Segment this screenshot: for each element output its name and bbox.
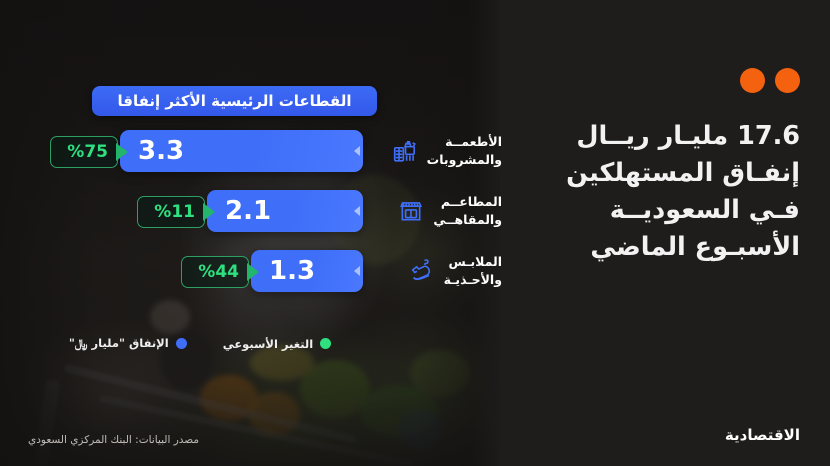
- category-label-line: الملابـس: [444, 253, 502, 271]
- headline-line-1: 17.6 مليـار ريــال: [515, 118, 800, 155]
- legend-item-spending: الإنفاق "مليار ﷼": [69, 336, 187, 351]
- category-label-group: المطاعــم والمقاهــي: [398, 186, 502, 236]
- bar-spending: 3.3: [120, 130, 363, 172]
- clothing-icon: [409, 258, 435, 284]
- headline-line-2: إنفـاق المستهلكين: [515, 155, 800, 192]
- bar-value-label: 3.3: [138, 138, 184, 164]
- category-label-group: الملابـس والأحـذيـة: [409, 246, 502, 296]
- storefront-icon: [398, 198, 424, 224]
- chart-legend: الإنفاق "مليار ﷼" التغير الأسبوعي: [0, 336, 400, 351]
- legend-item-weekly-change: التغير الأسبوعي: [223, 336, 332, 351]
- badge-arrow-icon: [203, 203, 215, 221]
- category-label: المطاعــم والمقاهــي: [433, 193, 502, 229]
- category-label-line: والمشروبات: [427, 151, 502, 169]
- bar-end-arrow-icon: [354, 206, 360, 216]
- data-source-note: مصدر البيانات: البنك المركزي السعودي: [28, 434, 199, 446]
- badge-arrow-icon: [116, 143, 128, 161]
- legend-label: التغير الأسبوعي: [223, 337, 314, 351]
- category-label: الأطعمــة والمشروبات: [427, 133, 502, 169]
- weekly-change-badge: %44: [181, 256, 249, 288]
- weekly-change-badge: %75: [50, 136, 118, 168]
- bar-value-label: 2.1: [225, 198, 271, 224]
- category-label-line: الأطعمــة: [427, 133, 502, 151]
- groceries-icon: [392, 138, 418, 164]
- category-label-group: الأطعمــة والمشروبات: [392, 126, 502, 176]
- blue-dot-icon: [176, 338, 187, 349]
- headline-line-4: الأسبـوع الماضي: [515, 229, 800, 266]
- badge-arrow-icon: [247, 263, 259, 281]
- publisher-logo: الاقتصادية: [725, 426, 800, 444]
- weekly-change-label: %75: [67, 142, 108, 162]
- bar-value-label: 1.3: [269, 258, 315, 284]
- bar-spending: 2.1: [207, 190, 363, 232]
- bar-end-arrow-icon: [354, 146, 360, 156]
- orange-dot-icon: [775, 68, 800, 93]
- infographic-canvas: 17.6 مليـار ريــال إنفـاق المستهلكين فـي…: [0, 0, 830, 466]
- bar-spending: 1.3: [251, 250, 363, 292]
- headline: 17.6 مليـار ريــال إنفـاق المستهلكين فـي…: [515, 118, 800, 266]
- category-label-line: والأحـذيـة: [444, 271, 502, 289]
- legend-label: الإنفاق "مليار ﷼": [69, 336, 169, 351]
- category-label: الملابـس والأحـذيـة: [444, 253, 502, 289]
- bar-end-arrow-icon: [354, 266, 360, 276]
- bar-row: 1.3 %44 الملابـس والأحـذيـة: [0, 246, 520, 306]
- headline-line-3: فـي السعوديــة: [515, 192, 800, 229]
- bar-row: 3.3 %75 الأطعمــة والمشروبات: [0, 126, 520, 186]
- weekly-change-badge: %11: [137, 196, 205, 228]
- category-label-line: والمقاهــي: [433, 211, 502, 229]
- category-label-line: المطاعــم: [433, 193, 502, 211]
- orange-dot-icon: [740, 68, 765, 93]
- weekly-change-label: %44: [198, 262, 239, 282]
- chart-title: القطاعات الرئيسية الأكثر إنفاقا: [92, 86, 377, 116]
- brand-dots: [740, 68, 800, 93]
- bar-row: 2.1 %11 المطاعــم والمقاهــي: [0, 186, 520, 246]
- green-dot-icon: [320, 338, 331, 349]
- bar-chart: 3.3 %75 الأطعمــة والمشروبات: [0, 126, 520, 306]
- weekly-change-label: %11: [154, 202, 195, 222]
